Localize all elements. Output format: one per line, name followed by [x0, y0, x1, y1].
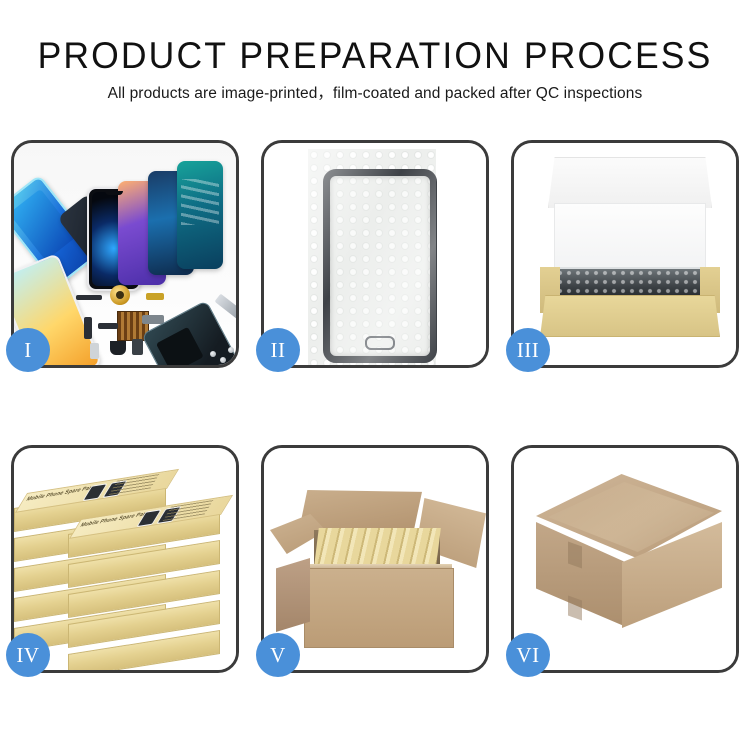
wrapped-screen-in-box	[556, 269, 702, 299]
page-subtitle: All products are image-printed，film-coat…	[0, 84, 750, 104]
step-badge-6: VI	[506, 633, 550, 677]
step-panel-2[interactable]: II	[261, 140, 489, 368]
vibrator-motor	[132, 339, 143, 355]
flex-cable-gold	[146, 293, 164, 300]
process-row-top: I II	[11, 140, 739, 368]
header: PRODUCT PREPARATION PROCESS All products…	[0, 34, 750, 104]
screw-2	[220, 357, 226, 363]
step-panel-4[interactable]: Mobile Phone Spare Parts Mobile Phone Sp…	[11, 445, 239, 673]
step-panel-6[interactable]: VI	[511, 445, 739, 673]
speaker-coil-icon	[110, 285, 130, 305]
step-image-3	[514, 143, 736, 365]
step-image-5	[264, 448, 486, 670]
step-panel-1[interactable]: I	[11, 140, 239, 368]
flex-cable-3	[98, 323, 118, 329]
step-badge-3: III	[506, 328, 550, 372]
step-image-1	[14, 143, 236, 365]
flex-cable-1	[76, 295, 102, 300]
step-image-2	[264, 143, 486, 365]
notch-icon	[105, 191, 123, 195]
sim-tray-icon	[90, 343, 99, 359]
screw-3	[228, 347, 234, 353]
flex-cable-2	[84, 317, 92, 339]
step-image-6	[514, 448, 736, 670]
step-panel-5[interactable]: V	[261, 445, 489, 673]
step-badge-1: I	[6, 328, 50, 372]
speaker-mesh	[110, 341, 126, 355]
box-lid-flap	[548, 157, 712, 208]
carton-seam-bottom	[568, 595, 582, 620]
step-image-4: Mobile Phone Spare Parts Mobile Phone Sp…	[14, 448, 236, 670]
process-step-grid: I II	[11, 140, 739, 673]
phone-chassis	[141, 300, 236, 365]
step-badge-5: V	[256, 633, 300, 677]
product-preparation-infographic: PRODUCT PREPARATION PROCESS All products…	[0, 0, 750, 750]
step-badge-2: II	[256, 328, 300, 372]
box-front-panel	[540, 295, 720, 337]
process-row-bottom: Mobile Phone Spare Parts Mobile Phone Sp…	[11, 445, 739, 673]
camera-module	[142, 315, 164, 324]
carton-left-face	[276, 558, 310, 632]
phone-screen-teal	[177, 161, 223, 269]
carton-seam-top	[568, 541, 582, 568]
screw-1	[210, 351, 216, 357]
foam-pad	[554, 203, 706, 273]
tweezers-icon	[215, 294, 236, 323]
step-panel-3[interactable]: III	[511, 140, 739, 368]
step-badge-4: IV	[6, 633, 50, 677]
wrapped-screen	[323, 169, 437, 363]
box-stack: Mobile Phone Spare Parts Mobile Phone Sp…	[14, 470, 236, 666]
carton-front-face	[304, 568, 454, 648]
page-title: PRODUCT PREPARATION PROCESS	[15, 34, 735, 78]
